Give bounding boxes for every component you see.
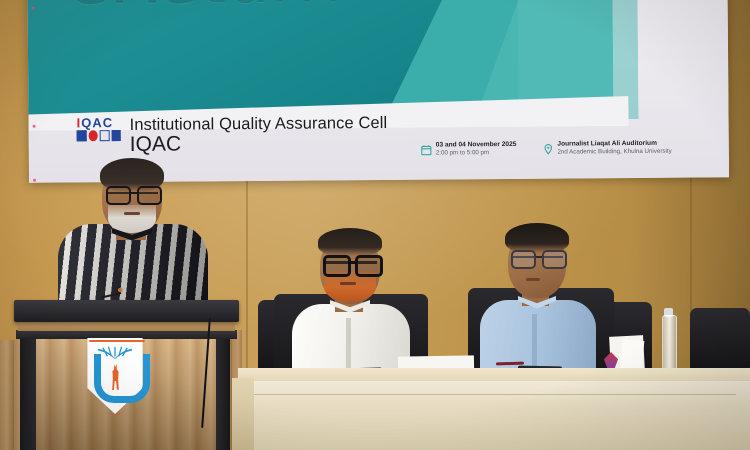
podium-wood-trim [18, 321, 235, 331]
empty-chair [690, 308, 750, 374]
event-photograph: eReturn (e-Return) & Tax Rules I Q A C [0, 0, 750, 450]
iqac-letter-i: I [77, 116, 81, 129]
banner-footer-info: 03 and 04 November 2025 2:00 pm to 5:00 … [421, 140, 672, 158]
banner-pin [33, 125, 36, 128]
speaker-at-podium [58, 162, 208, 312]
eyeglasses-icon [323, 255, 377, 271]
podium-top [14, 300, 239, 322]
hair [505, 223, 569, 253]
conference-table [238, 368, 750, 450]
event-banner: eReturn (e-Return) & Tax Rules I Q A C [27, 0, 729, 183]
watermark-return: Return [108, 0, 342, 20]
iqac-logo-icon: I Q A C [77, 116, 121, 141]
iqac-letter-a: A [92, 116, 101, 129]
hair [318, 228, 382, 256]
table-top [238, 368, 750, 382]
emblem-u-shape [94, 354, 150, 403]
iqac-short-name: IQAC [130, 131, 388, 157]
iqac-letter-c: C [103, 116, 112, 129]
banner-venue-block: Journalist Liaqat Ali Auditorium 2nd Aca… [542, 140, 671, 157]
seated-person-white-shirt [288, 232, 414, 377]
beard [108, 205, 156, 233]
eyeglasses-icon [511, 250, 563, 265]
iqac-square-1 [77, 130, 87, 141]
iqac-logo-lockup: I Q A C Institutional Quality Assurance … [77, 114, 388, 157]
mouth [340, 282, 356, 285]
mouth [124, 212, 140, 215]
khulna-university-emblem [85, 338, 145, 414]
location-pin-icon [542, 142, 553, 153]
calendar-icon [421, 143, 432, 154]
banner-date-block: 03 and 04 November 2025 2:00 pm to 5:00 … [421, 141, 517, 158]
water-bottle [662, 315, 677, 375]
table-panel [252, 394, 736, 443]
podium-side-right [214, 336, 230, 450]
banner-venue-line2: 2nd Academic Building, Khulna University [557, 148, 671, 157]
banner-watermark: eReturn [65, 0, 342, 20]
eyeglasses-icon [106, 186, 158, 201]
iqac-square-2 [100, 130, 110, 141]
banner-date-line2: 2:00 pm to 5:00 pm [436, 149, 517, 158]
iqac-letter-q: Q [81, 116, 91, 129]
iqac-square-3 [111, 130, 121, 141]
seated-person-blue-shirt [478, 228, 598, 376]
banner-pin [32, 7, 35, 10]
microphone-icon [118, 288, 122, 292]
banner-pin [33, 179, 36, 182]
mouth [526, 278, 540, 281]
watermark-e: e [65, 0, 109, 20]
iqac-dot-icon [88, 130, 98, 141]
